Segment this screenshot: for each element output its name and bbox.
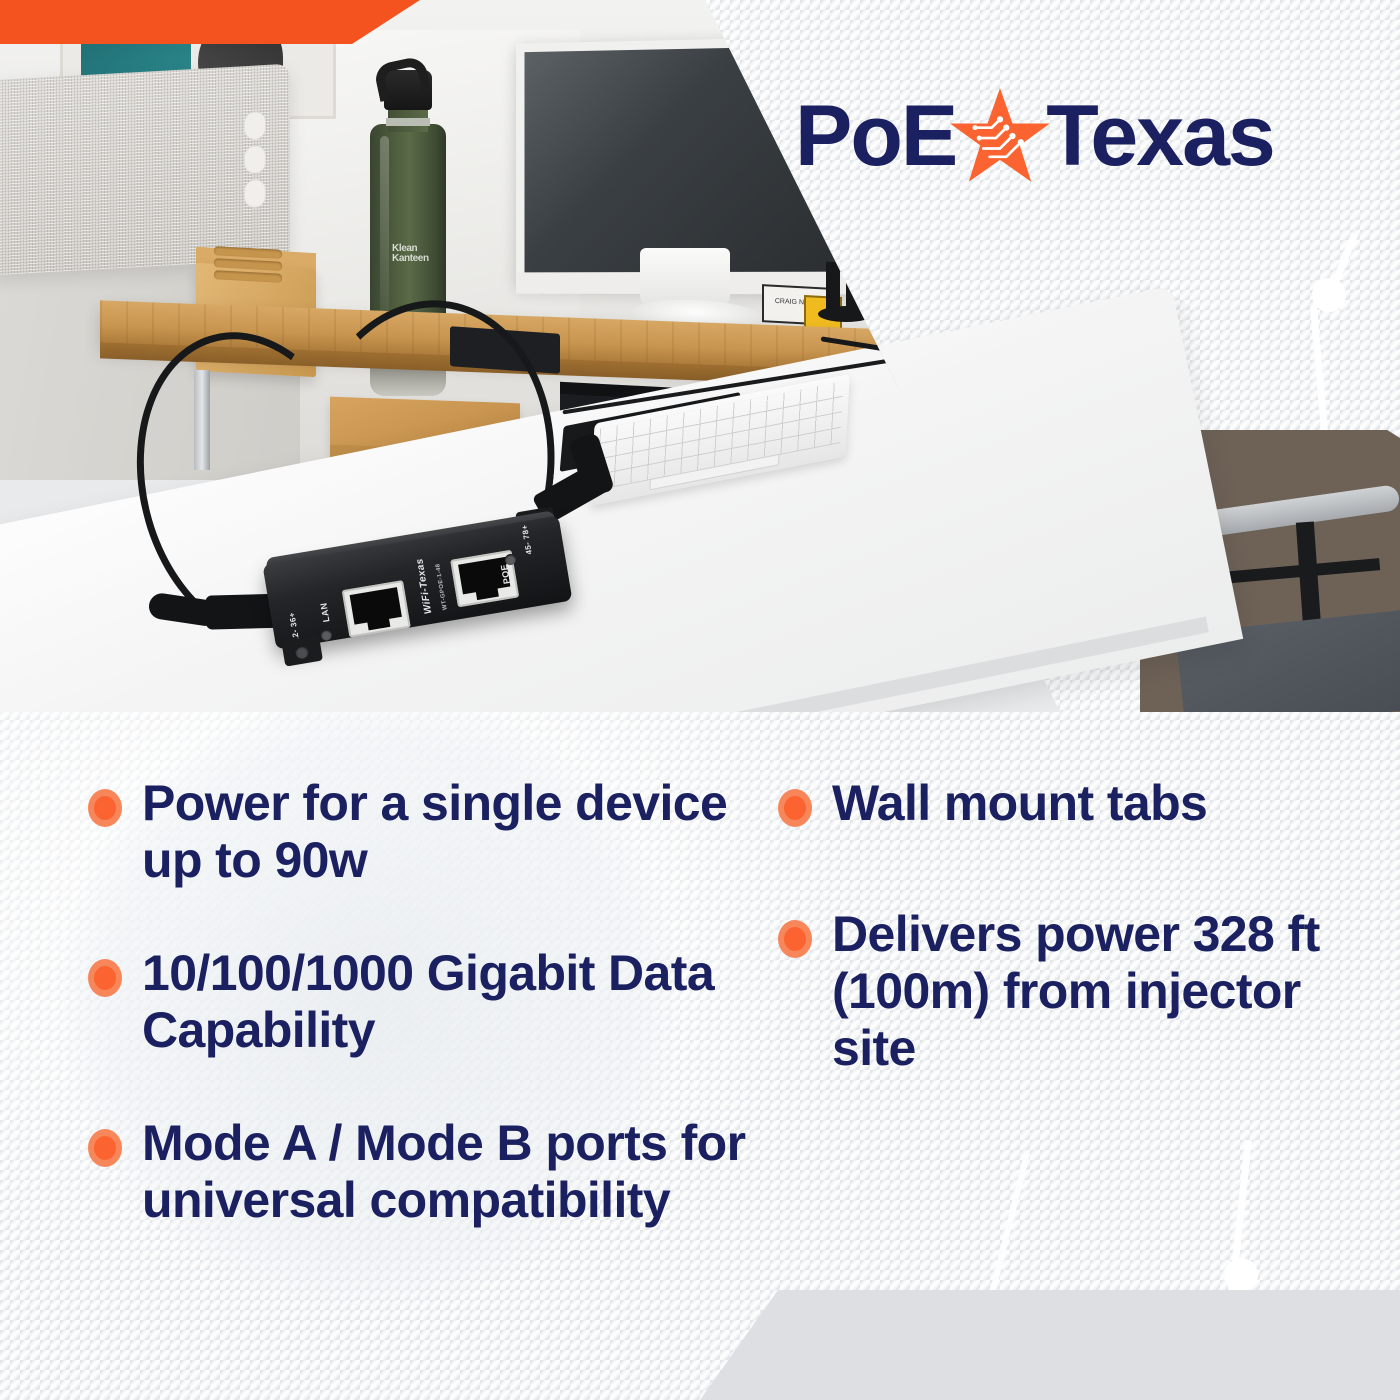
feature-item: 10/100/1000 Gigabit Data Capability xyxy=(88,945,788,1059)
shelf-statue xyxy=(826,262,840,311)
marketing-infographic: Klean Kanteen CRAIG NODE xyxy=(0,0,1400,1400)
speaker-button xyxy=(244,111,266,140)
feature-column-right: Wall mount tabs Delivers power 328 ft (1… xyxy=(778,775,1368,1077)
shelf-cup xyxy=(640,248,730,306)
lan-port xyxy=(342,580,411,638)
orange-dot-icon xyxy=(778,789,812,827)
speaker-button xyxy=(244,179,266,208)
feature-item: Power for a single device up to 90w xyxy=(88,775,788,889)
feature-text: 10/100/1000 Gigabit Data Capability xyxy=(142,945,788,1059)
feature-text: Delivers power 328 ft (100m) from inject… xyxy=(832,906,1368,1077)
feature-list: Power for a single device up to 90w 10/1… xyxy=(0,735,1400,1335)
orange-corner-banner xyxy=(0,0,420,44)
orange-dot-icon xyxy=(88,959,122,997)
orange-dot-icon xyxy=(88,789,122,827)
logo-text-texas: Texas xyxy=(1046,93,1273,179)
wall-mount-tab xyxy=(281,635,323,667)
bottle-brand-label: Klean Kanteen xyxy=(392,244,436,264)
lan-port-label: LAN xyxy=(318,602,331,623)
pinout-right-label: 45- 78+ xyxy=(520,524,534,555)
feature-text: Wall mount tabs xyxy=(832,775,1207,832)
status-led xyxy=(320,629,333,642)
poe-texas-logo: PoE Texas xyxy=(795,86,1315,186)
star-circuit-icon xyxy=(948,86,1052,186)
orange-dot-icon xyxy=(88,1129,122,1167)
device-model-label: WT-GPOE-1-48 xyxy=(435,563,449,610)
feature-text: Mode A / Mode B ports for universal comp… xyxy=(142,1115,788,1229)
logo-text-poe: PoE xyxy=(795,93,956,179)
fabric-speaker xyxy=(0,64,290,276)
feature-item: Delivers power 328 ft (100m) from inject… xyxy=(778,906,1368,1077)
device-brand-label: WiFi-Texas xyxy=(414,557,434,614)
feature-item: Wall mount tabs xyxy=(778,775,1368,832)
feature-item: Mode A / Mode B ports for universal comp… xyxy=(88,1115,788,1229)
feature-text: Power for a single device up to 90w xyxy=(142,775,788,889)
speaker-button xyxy=(244,145,266,174)
orange-dot-icon xyxy=(778,920,812,958)
feature-column-left: Power for a single device up to 90w 10/1… xyxy=(88,775,788,1229)
